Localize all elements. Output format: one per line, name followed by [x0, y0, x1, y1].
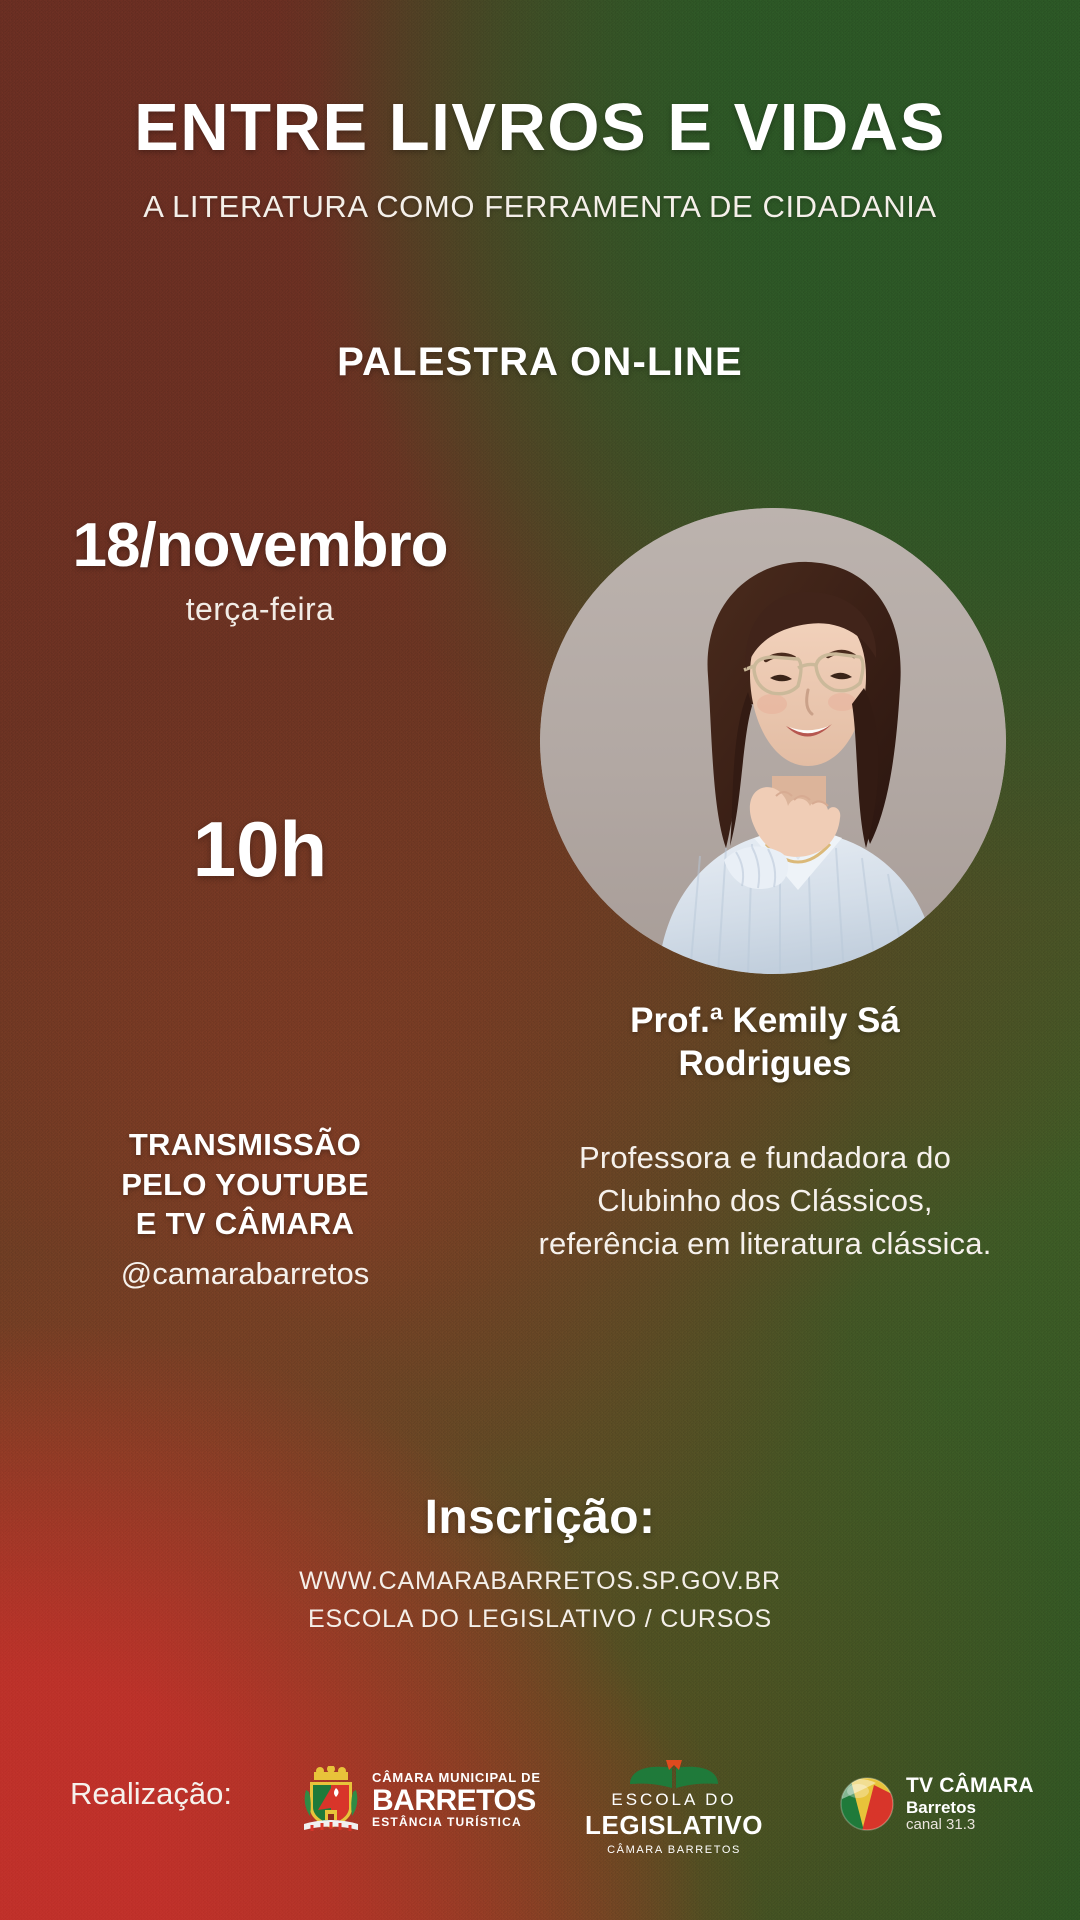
- open-book-icon: [626, 1758, 722, 1788]
- footer-label: Realização:: [70, 1776, 232, 1812]
- logo-escola-line2: LEGISLATIVO: [585, 1812, 763, 1839]
- registration-details: WWW.CAMARABARRETOS.SP.GOV.BR ESCOLA DO L…: [0, 1563, 1080, 1638]
- logo-escola-do-legislativo: ESCOLA DO LEGISLATIVO CÂMARA BARRETOS: [585, 1758, 763, 1856]
- poster-header: ENTRE LIVROS E VIDAS A LITERATURA COMO F…: [0, 94, 1080, 225]
- footer: Realização:: [0, 1752, 1080, 1862]
- speaker-bio: Professora e fundadora do Clubinho dos C…: [530, 1137, 1000, 1265]
- registration-url[interactable]: WWW.CAMARABARRETOS.SP.GOV.BR: [299, 1567, 781, 1595]
- broadcast-title: TRANSMISSÃO PELO YOUTUBE E TV CÂMARA: [30, 1125, 460, 1244]
- event-weekday: terça-feira: [0, 591, 520, 628]
- logo-tv-camara: TV CÂMARA Barretos canal 31.3: [840, 1774, 1034, 1833]
- event-type-label: PALESTRA ON-LINE: [0, 340, 1080, 385]
- event-poster: ENTRE LIVROS E VIDAS A LITERATURA COMO F…: [0, 0, 1080, 1920]
- speaker-block: Prof.ª Kemily Sá Rodrigues Professora e …: [530, 1000, 1000, 1266]
- event-date-block: 18/novembro terça-feira: [0, 515, 520, 628]
- event-time: 10h: [0, 810, 520, 888]
- tv-camara-sphere-icon: [840, 1777, 894, 1831]
- broadcast-block: TRANSMISSÃO PELO YOUTUBE E TV CÂMARA @ca…: [30, 1125, 460, 1292]
- social-handle[interactable]: @camarabarretos: [30, 1256, 460, 1292]
- logo-escola-line3: CÂMARA BARRETOS: [607, 1844, 741, 1856]
- poster-content: ENTRE LIVROS E VIDAS A LITERATURA COMO F…: [0, 0, 1080, 1920]
- speaker-name: Prof.ª Kemily Sá Rodrigues: [530, 1000, 1000, 1085]
- event-date: 18/novembro: [0, 515, 520, 577]
- logo-tv-text: TV CÂMARA Barretos canal 31.3: [906, 1774, 1034, 1833]
- logo-tv-line1: TV CÂMARA: [906, 1774, 1034, 1798]
- avatar: [540, 508, 1006, 974]
- registration-title: Inscrição:: [0, 1490, 1080, 1545]
- broadcast-line3: E TV CÂMARA: [136, 1206, 355, 1241]
- page-title: ENTRE LIVROS E VIDAS: [0, 94, 1080, 161]
- logo-camara-municipal-barretos: CÂMARA MUNICIPAL DE BARRETOS ESTÂNCIA TU…: [300, 1766, 541, 1834]
- speaker-portrait-illustration: [540, 508, 1006, 974]
- logo-tv-line3: canal 31.3: [906, 1817, 1034, 1834]
- speaker-name-line1: Prof.ª Kemily Sá: [630, 1001, 900, 1040]
- registration-path: ESCOLA DO LEGISLATIVO / CURSOS: [308, 1605, 772, 1633]
- logo-camara-line2: BARRETOS: [372, 1785, 541, 1817]
- broadcast-line1: TRANSMISSÃO: [129, 1127, 361, 1162]
- speaker-name-line2: Rodrigues: [678, 1044, 851, 1083]
- logo-camara-line1: CÂMARA MUNICIPAL DE: [372, 1771, 541, 1785]
- logo-escola-line1: ESCOLA DO: [611, 1790, 736, 1810]
- logo-camara-text: CÂMARA MUNICIPAL DE BARRETOS ESTÂNCIA TU…: [372, 1771, 541, 1829]
- logo-tv-line2: Barretos: [906, 1798, 1034, 1817]
- event-time-block: 10h: [0, 810, 520, 888]
- registration-block: Inscrição: WWW.CAMARABARRETOS.SP.GOV.BR …: [0, 1490, 1080, 1638]
- broadcast-line2: PELO YOUTUBE: [121, 1167, 369, 1202]
- coat-of-arms-icon: [300, 1766, 362, 1834]
- page-subtitle: A LITERATURA COMO FERRAMENTA DE CIDADANI…: [0, 189, 1080, 225]
- logo-camara-line3: ESTÂNCIA TURÍSTICA: [372, 1816, 541, 1829]
